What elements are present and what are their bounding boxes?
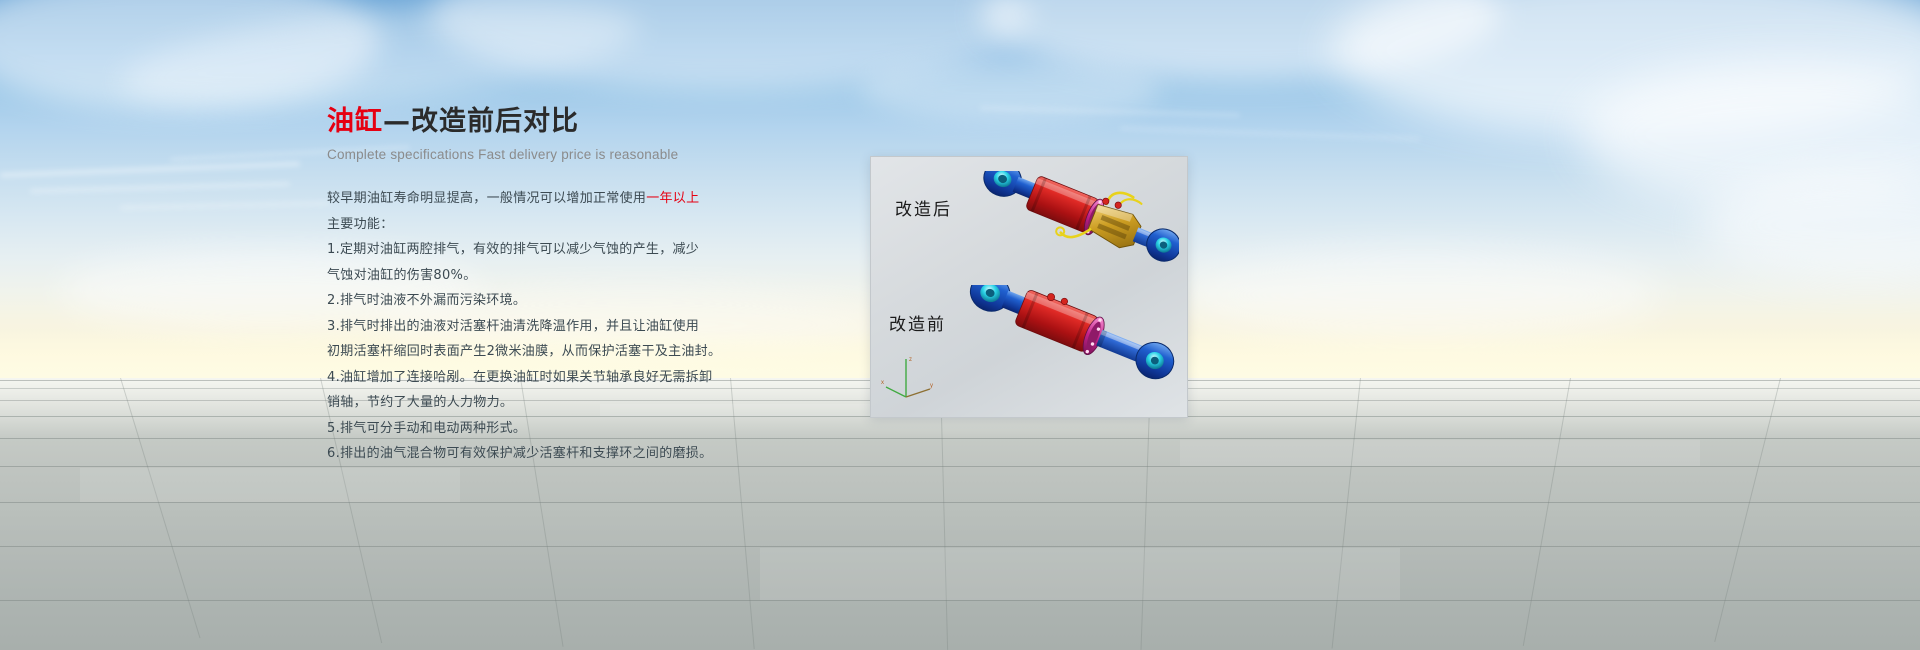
description-line: 气蚀对油缸的伤害80%。 <box>327 263 847 289</box>
description-accent: 一年以上 <box>646 191 699 206</box>
axis-label-z: z <box>909 357 912 363</box>
description-line: 3.排气时排出的油液对活塞杆油清洗降温作用，并且让油缸使用 <box>327 314 847 340</box>
description-line: 初期活塞杆缩回时表面产生2微米油膜，从而保护活塞干及主油封。 <box>327 339 847 365</box>
description-line: 4.油缸增加了连接哈剐。在更换油缸时如果关节轴承良好无需拆卸 <box>327 365 847 391</box>
cloud-streak <box>120 202 330 209</box>
axis-label-y: y <box>930 383 933 389</box>
plaza-foreground <box>0 378 1920 650</box>
banner-text-column: 油缸—改造前后对比 Complete specifications Fast d… <box>327 106 847 467</box>
description-line: 2.排气时油液不外漏而污染环境。 <box>327 288 847 314</box>
description-line: 较早期油缸寿命明显提高，一般情况可以增加正常使用一年以上 <box>327 186 847 212</box>
pavement-grid <box>0 378 1920 650</box>
cloud-streak <box>1120 127 1420 140</box>
label-before-modification: 改造前 <box>889 310 946 335</box>
product-comparison-panel: 改造后 改造前 <box>870 156 1188 418</box>
coordinate-axis-gizmo: z x y <box>880 353 936 405</box>
cloud-streak <box>0 162 300 177</box>
axis-label-x: x <box>881 380 884 386</box>
description-line: 主要功能： <box>327 212 847 238</box>
description-line: 6.排出的油气混合物可有效保护减少活塞杆和支撑环之间的磨损。 <box>327 441 847 467</box>
page-title-rest: —改造前后对比 <box>383 106 579 137</box>
hero-banner: 油缸—改造前后对比 Complete specifications Fast d… <box>0 0 1920 650</box>
description-line: 5.排气可分手动和电动两种形式。 <box>327 416 847 442</box>
hydraulic-cylinder-after-diagram <box>967 171 1179 287</box>
feature-description: 较早期油缸寿命明显提高，一般情况可以增加正常使用一年以上 主要功能： 1.定期对… <box>327 186 847 467</box>
cloud-shape <box>1180 250 1660 340</box>
cloud-streak <box>30 182 290 192</box>
page-subtitle: Complete specifications Fast delivery pr… <box>327 147 847 162</box>
page-title-highlight: 油缸 <box>327 106 383 137</box>
page-title: 油缸—改造前后对比 <box>327 106 847 138</box>
description-line: 1.定期对油缸两腔排气，有效的排气可以减少气蚀的产生，减少 <box>327 237 847 263</box>
label-after-modification: 改造后 <box>895 195 952 220</box>
hydraulic-cylinder-before-diagram <box>951 285 1179 411</box>
description-line: 销轴，节约了大量的人力物力。 <box>327 390 847 416</box>
